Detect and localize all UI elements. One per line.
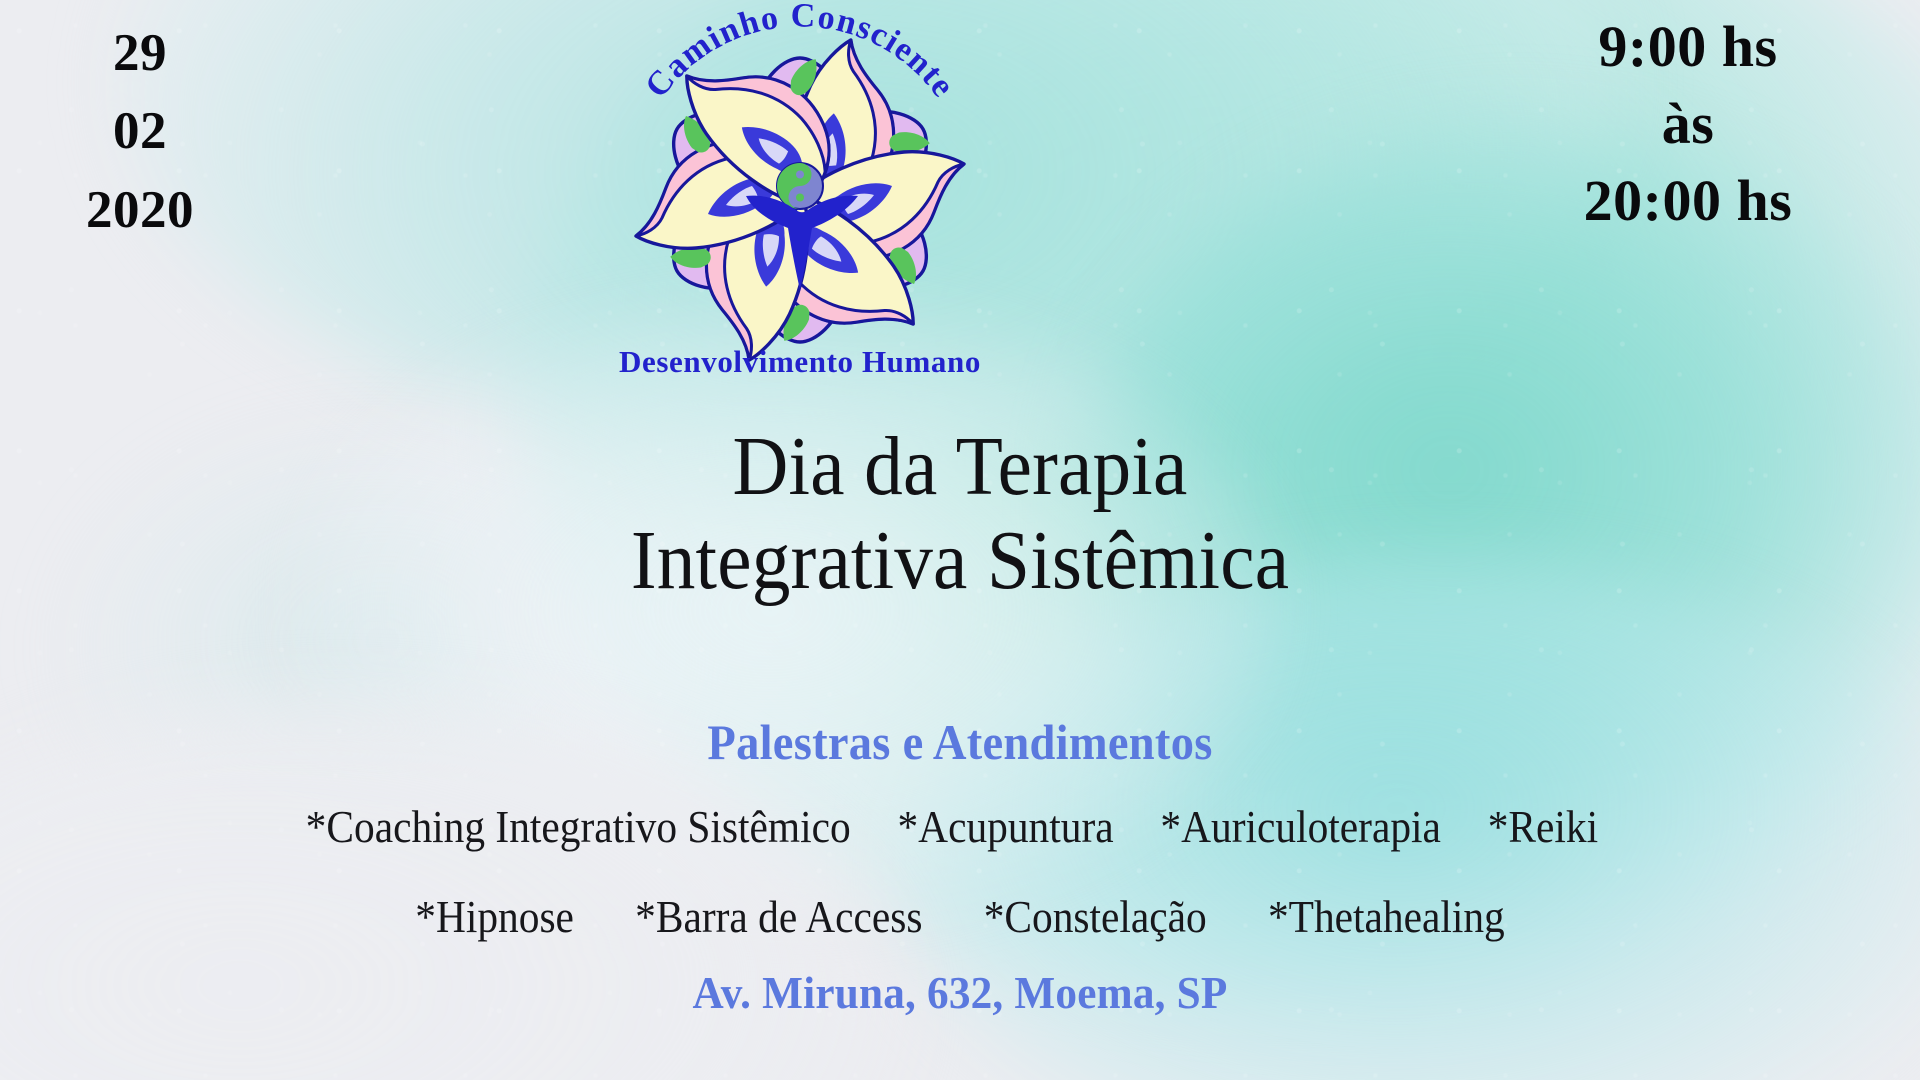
event-hours: 9:00 hs às 20:00 hs (1478, 8, 1898, 239)
service-item: *Reiki (1488, 800, 1598, 853)
services-row-2: *Hipnose *Barra de Access *Constelação *… (96, 890, 1824, 943)
hours-end-time: 20:00 hs (1478, 162, 1898, 239)
service-item: *Auriculoterapia (1160, 800, 1440, 853)
service-item: *Acupuntura (897, 800, 1113, 853)
date-day: 29 (10, 14, 270, 92)
event-date: 29 02 2020 (10, 14, 270, 249)
event-flyer: 29 02 2020 9:00 hs às 20:00 hs (0, 0, 1920, 1080)
logo-bottom-text: Desenvolvimento Humano (619, 344, 981, 379)
page-title: Dia da Terapia Integrativa Sistêmica (77, 420, 1843, 608)
date-year: 2020 (10, 171, 270, 249)
venue-address: Av. Miruna, 632, Moema, SP (58, 966, 1863, 1019)
service-item: *Coaching Integrativo Sistêmico (306, 800, 851, 853)
subtitle: Palestras e Atendimentos (67, 713, 1853, 771)
service-item: *Thetahealing (1268, 890, 1505, 943)
title-line-2: Integrativa Sistêmica (77, 514, 1843, 608)
title-line-1: Dia da Terapia (77, 420, 1843, 514)
date-month: 02 (10, 92, 270, 170)
service-item: *Barra de Access (635, 890, 922, 943)
services-row-1: *Coaching Integrativo Sistêmico *Acupunt… (96, 800, 1824, 853)
brand-logo: Caminho Consciente (600, 0, 1000, 400)
service-item: *Hipnose (415, 890, 574, 943)
service-item: *Constelação (984, 890, 1207, 943)
hours-start-time: 9:00 hs (1478, 8, 1898, 85)
logo-yin-yang-icon (777, 163, 823, 209)
hours-separator: às (1478, 85, 1898, 162)
